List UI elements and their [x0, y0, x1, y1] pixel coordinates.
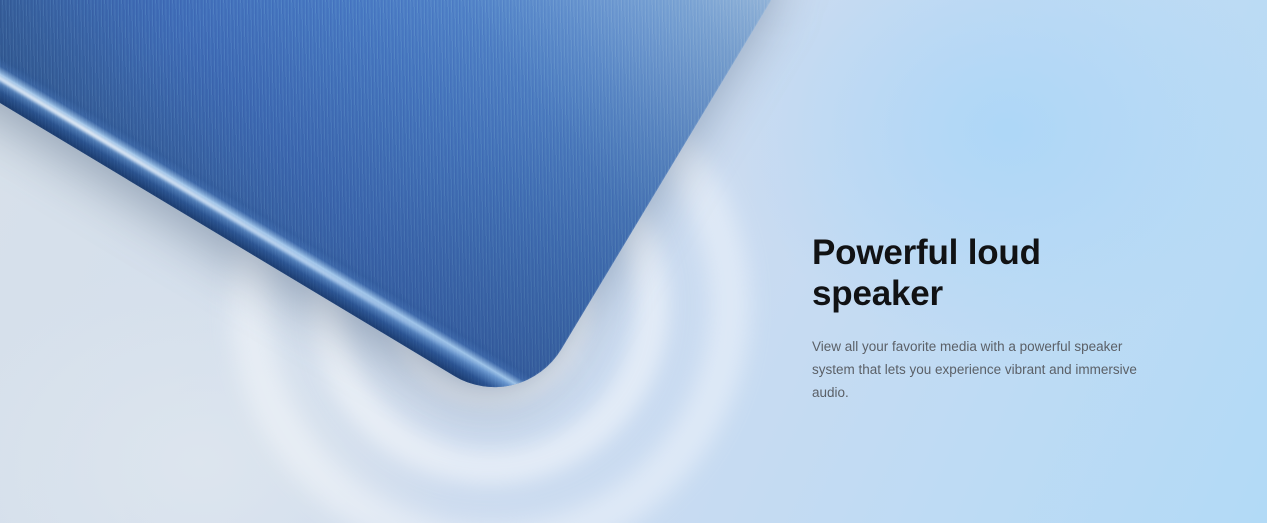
feature-description: View all your favorite media with a powe… — [812, 335, 1150, 405]
phone-product-image — [0, 0, 810, 416]
powerful-loud-speaker-banner: Powerful loud speaker View all your favo… — [0, 0, 1267, 523]
phone-texture-stripes — [0, 0, 810, 416]
sound-wave-ring-inner — [388, 203, 592, 407]
phone-glossy-edge — [0, 0, 544, 416]
phone-texture-stripes-fine — [0, 0, 810, 416]
background-glow-bottom-left — [0, 183, 560, 523]
sound-wave-ring-outer — [230, 45, 750, 523]
sound-wave-ring-middle — [311, 126, 669, 484]
sound-wave-core-glow — [325, 140, 655, 470]
phone-tip-shading — [0, 0, 810, 416]
feature-headline: Powerful loud speaker — [812, 232, 1082, 315]
feature-copy-block: Powerful loud speaker View all your favo… — [812, 232, 1172, 404]
phone-drop-shadow — [0, 0, 802, 428]
phone-back-cover — [0, 0, 810, 416]
phone-sheen — [0, 0, 810, 416]
phone-edge-specular-highlight — [0, 0, 511, 386]
